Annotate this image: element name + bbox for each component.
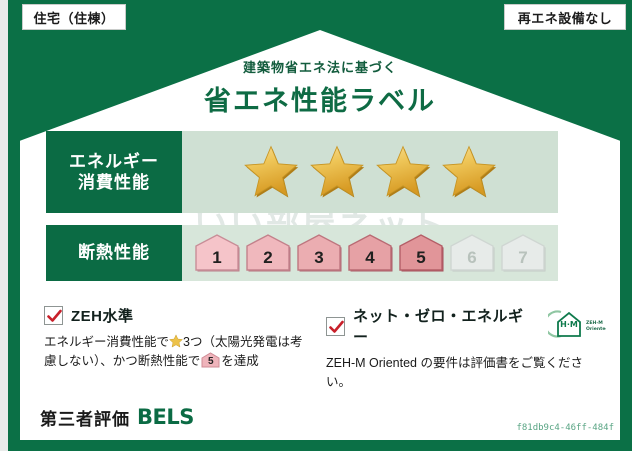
zeh-m-oriented-logo: H·M ZEH-M Oriented <box>548 309 606 344</box>
insulation-rating-body: 1234567 <box>182 225 558 281</box>
insulation-grade-1: 1 <box>193 232 241 272</box>
insulation-grade-2: 2 <box>244 232 292 272</box>
insulation-grade-4: 4 <box>346 232 394 272</box>
evaluation-date-label: 評価日 <box>482 406 521 421</box>
zeh-desc-part3: を達成 <box>221 354 259 368</box>
renewable-equipment-chip-label: 再エネ設備なし <box>518 8 613 27</box>
svg-text:ZEH-M: ZEH-M <box>586 320 603 326</box>
insulation-grade-scale: 1234567 <box>193 232 547 274</box>
star-rating <box>243 144 497 200</box>
energy-performance-row: エネルギー 消費性能 <box>46 131 558 213</box>
check-icon <box>329 320 344 335</box>
insulation-grade-value: 3 <box>314 248 323 272</box>
label-title: 省エネ性能ラベル <box>0 79 640 118</box>
insulation-grade-7: 7 <box>499 232 547 272</box>
evaluation-organization: ＲＥＳＵＡ浜田 <box>228 410 326 427</box>
zeh-standard-checkbox[interactable] <box>44 306 63 325</box>
building-type-chip: 住宅（住棟） <box>22 4 126 30</box>
insulation-grade-value: 6 <box>467 248 476 272</box>
insulation-grade-5: 5 <box>397 232 445 272</box>
star-filled-icon <box>441 144 497 200</box>
evaluation-date-value: 2025年1月14日 <box>524 406 614 421</box>
insulation-grade-3: 3 <box>295 232 343 272</box>
energy-label-line1: エネルギー <box>69 151 159 172</box>
insulation-grade-6: 6 <box>448 232 496 272</box>
renewable-equipment-chip: 再エネ設備なし <box>504 4 626 30</box>
energy-label-line2: 消費性能 <box>78 172 150 193</box>
third-party-evaluation-label: 第三者評価 <box>40 405 130 430</box>
energy-performance-label-cell: エネルギー 消費性能 <box>46 131 182 213</box>
insulation-performance-row: 断熱性能 1234567 <box>46 225 558 281</box>
net-zero-energy-head: ネット・ゼロ・エネルギー H·M ZEH-M Oriented <box>326 305 606 347</box>
zeh-standard-head: ZEH水準 <box>44 305 314 326</box>
net-zero-energy-title: ネット・ゼロ・エネルギー <box>353 305 536 347</box>
zeh-standard-title: ZEH水準 <box>71 305 134 326</box>
energy-performance-label: 住宅（住棟） 再エネ設備なし 建築物省エネ法に基づく 省エネ性能ラベル いい部屋… <box>0 0 640 451</box>
evaluation-date: 評価日 2025年1月14日 <box>482 403 614 422</box>
zeh-desc-part1: エネルギー消費性能で <box>44 335 169 349</box>
zeh-standard-block: ZEH水準 エネルギー消費性能で3つ（太陽光発電は考慮しない）、かつ断熱性能で5… <box>44 305 314 372</box>
insulation-grade-value: 4 <box>365 248 374 272</box>
insulation-performance-label-cell: 断熱性能 <box>46 225 182 281</box>
star-filled-icon <box>309 144 365 200</box>
svg-text:H·M: H·M <box>560 320 578 329</box>
insulation-grade-value: 7 <box>518 248 527 272</box>
net-zero-energy-checkbox[interactable] <box>326 317 345 336</box>
net-zero-energy-description: ZEH-M Oriented の要件は評価書をご覧ください。 <box>326 354 606 393</box>
zeh-m-house-icon: H·M ZEH-M Oriented <box>548 309 606 339</box>
bels-logo-text: BELS <box>137 405 194 429</box>
bels-badge: 第三者評価 BELS <box>30 402 204 432</box>
insulation-grade-value: 1 <box>212 248 221 272</box>
building-type-chip-label: 住宅（住棟） <box>33 8 114 27</box>
insulation-level-badge: 5 <box>201 352 220 368</box>
zeh-standard-description: エネルギー消費性能で3つ（太陽光発電は考慮しない）、かつ断熱性能で5を達成 <box>44 333 314 372</box>
energy-rating-body <box>182 131 558 213</box>
insulation-grade-value: 5 <box>416 248 425 272</box>
net-zero-energy-block: ネット・ゼロ・エネルギー H·M ZEH-M Oriented ZEH-M Or… <box>326 305 606 393</box>
insulation-grade-value: 2 <box>263 248 272 272</box>
check-icon <box>47 309 62 324</box>
insulation-label-line1: 断熱性能 <box>78 242 150 263</box>
star-filled-icon <box>243 144 299 200</box>
label-subtitle: 建築物省エネ法に基づく <box>0 57 640 76</box>
inline-star-icon <box>169 334 183 348</box>
star-filled-icon <box>375 144 431 200</box>
document-id: f81db9c4-46ff-484f <box>516 423 614 433</box>
svg-text:Oriented: Oriented <box>586 326 606 332</box>
insulation-level-badge-value: 5 <box>201 354 220 370</box>
